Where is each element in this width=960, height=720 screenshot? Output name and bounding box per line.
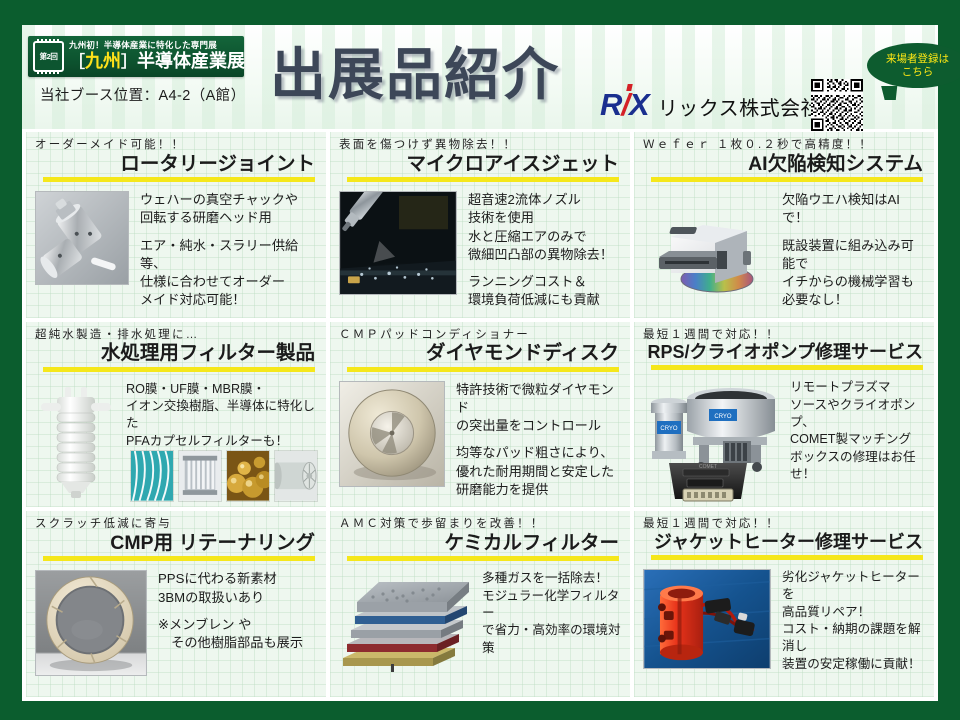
card-description: PPSに代わる新素材 3BMの取扱いあり ※メンブレン や その他樹脂部品も展示 [147, 570, 317, 676]
desc-paragraph: 欠陥ウエハ検知はAIで！ [782, 191, 925, 227]
ro-element-thumb [274, 450, 318, 502]
card-kicker: 最短１週間で対応！！ [643, 518, 925, 531]
title-underline [43, 556, 315, 561]
expo-logo-badge: 第2回 九州初！半導体産業に特化した専門展 ［九州］半導体産業展 [28, 36, 244, 77]
product-card-cryo-pump[interactable]: 最短１週間で対応！！ RPS/クライオポンプ修理サービス [634, 322, 934, 508]
bubble-line-2: こちら [902, 66, 934, 78]
desc-paragraph: 劣化ジャケットヒーターを 高品質リペア！ コスト・納期の課題を解消し 装置の安定… [782, 569, 925, 673]
title-underline [347, 556, 619, 561]
desc-paragraph: ※メンブレン や その他樹脂部品も展示 [158, 616, 317, 652]
card-kicker: 最短１週間で対応！！ [643, 329, 925, 342]
desc-paragraph: ウェハーの真空チャックや 回転する研磨ヘッド用 [140, 191, 317, 227]
desc-paragraph: リモートプラズマ ソースやクライオポンプ、 COMET製マッチング ボックスの修… [790, 379, 925, 483]
card-title: AI欠陥検知システム [748, 153, 923, 175]
desc-paragraph: ランニングコスト＆ 環境負荷低減にも貢献 [468, 273, 621, 309]
water-filter-photo [35, 381, 115, 499]
expo-name-rest: 半導体産業展 [137, 51, 245, 71]
poster-header: 第2回 九州初！半導体産業に特化した専門展 ［九州］半導体産業展 当社ブース位置… [22, 25, 938, 129]
expo-name-highlight: 九州 [85, 51, 121, 71]
product-card-diamond-disk[interactable]: ＣＭＰパッドコンディショナー ダイヤモンドディスク [330, 322, 630, 508]
title-underline [347, 367, 619, 372]
card-title: CMP用 リテーナリング [110, 532, 315, 554]
desc-paragraph: 多種ガスを一括除去！ モジュラー化学フィルター で省力・高効率の環境対策 [482, 570, 621, 657]
title-underline [43, 367, 315, 372]
expo-name: ［九州］半導体産業展 [69, 52, 245, 72]
card-title: RPS/クライオポンプ修理サービス [648, 342, 923, 363]
card-title: マイクロアイスジェット [406, 153, 619, 175]
product-card-water-filter[interactable]: 超純水製造・排水処理に… 水処理用フィルター製品 [26, 322, 326, 508]
title-underline [43, 177, 315, 182]
desc-paragraph: エア・純水・スラリー供給等、 仕様に合わせてオーダー メイド対応可能！ [140, 237, 317, 310]
chip-icon: 第2回 [33, 41, 64, 72]
booth-location: 当社ブース位置：A4-2（A館） [40, 84, 256, 105]
svg-text:CRYO: CRYO [714, 414, 732, 420]
filter-module-thumb [178, 450, 222, 502]
bracket-open: ［ [69, 54, 85, 71]
bubble-line-1: 来場者登録は [886, 53, 949, 65]
title-underline [651, 177, 923, 182]
card-description: リモートプラズマ ソースやクライオポンプ、 COMET製マッチング ボックスの修… [779, 379, 925, 503]
svg-text:COMET: COMET [699, 464, 717, 470]
chemical-filter-photo [339, 570, 471, 674]
company-name: リックス株式会社 [658, 92, 821, 121]
desc-paragraph: 均等なパッド粗さにより、 優れた耐用期間と安定した 研磨能力を提供 [456, 444, 621, 499]
retainer-ring-photo [35, 570, 147, 676]
desc-paragraph: RO膜・UF膜・MBR膜・ イオン交換樹脂、半導体に特化した PFAカプセルフィ… [126, 381, 317, 451]
card-kicker: 超純水製造・排水処理に… [35, 329, 317, 342]
poster-sheet: 第2回 九州初！半導体産業に特化した専門展 ［九州］半導体産業展 当社ブース位置… [22, 25, 938, 694]
poster-frame: 第2回 九州初！半導体産業に特化した専門展 ［九州］半導体産業展 当社ブース位置… [0, 0, 960, 720]
thumbnail-strip [130, 450, 318, 502]
card-title: 水処理用フィルター製品 [101, 342, 315, 364]
card-title: ロータリージョイント [120, 153, 315, 175]
card-description: 劣化ジャケットヒーターを 高品質リペア！ コスト・納期の課題を解消し 装置の安定… [771, 569, 925, 673]
card-description: 多種ガスを一括除去！ モジュラー化学フィルター で省力・高効率の環境対策 [471, 570, 621, 674]
title-underline [347, 177, 619, 182]
expo-tagline: 九州初！半導体産業に特化した専門展 [69, 41, 245, 50]
bracket-close: ］ [121, 54, 137, 71]
desc-paragraph: PPSに代わる新素材 3BMの取扱いあり [158, 570, 317, 606]
desc-paragraph: 超音速2流体ノズル 技術を使用 水と圧縮エアのみで 微細凹凸部の異物除去！ [468, 191, 621, 264]
card-title: ダイヤモンドディスク [426, 342, 619, 364]
product-card-rotary-joint[interactable]: オーダーメイド可能！！ ロータリージョイント [26, 132, 326, 318]
card-description: ウェハーの真空チャックや 回転する研磨ヘッド用 エア・純水・スラリー供給等、 仕… [129, 191, 317, 309]
card-kicker: Ｗｅｆｅｒ １枚０.２秒で高精度！！ [643, 139, 925, 152]
product-grid: オーダーメイド可能！！ ロータリージョイント [22, 129, 938, 701]
desc-paragraph: 特許技術で微粒ダイヤモンド の突出量をコントロール [456, 381, 621, 436]
card-kicker: オーダーメイド可能！！ [35, 139, 317, 152]
rix-logo-icon: R/X [600, 87, 649, 123]
rotary-joint-photo [35, 191, 129, 285]
micro-ice-jet-photo [339, 191, 457, 295]
company-branding: R/X リックス株式会社 [600, 87, 821, 123]
resin-beads-thumb [226, 450, 270, 502]
expo-badge-column: 第2回 九州初！半導体産業に特化した専門展 ［九州］半導体産業展 当社ブース位置… [28, 36, 256, 105]
visitor-registration-bubble[interactable]: 来場者登録は こちら [867, 43, 960, 88]
product-card-micro-ice-jet[interactable]: 表面を傷つけず異物除去！！ マイクロアイスジェット [330, 132, 630, 318]
product-card-chemical-filter[interactable]: ＡＭＣ対策で歩留まりを改善！！ ケミカルフィルター [330, 511, 630, 697]
product-card-ai-defect-detection[interactable]: Ｗｅｆｅｒ １枚０.２秒で高精度！！ AI欠陥検知システム [634, 132, 934, 318]
card-kicker: ＣＭＰパッドコンディショナー [339, 329, 621, 342]
card-kicker: 表面を傷つけず異物除去！！ [339, 139, 621, 152]
desc-paragraph: 既設装置に組み込み可能で イチからの機械学習も 必要なし！ [782, 237, 925, 310]
card-title: ケミカルフィルター [444, 532, 619, 554]
jacket-heater-photo [643, 569, 771, 669]
card-description: 欠陥ウエハ検知はAIで！ 既設装置に組み込み可能で イチからの機械学習も 必要な… [771, 191, 925, 309]
qr-code-icon[interactable] [811, 79, 863, 131]
card-description: 特許技術で微粒ダイヤモンド の突出量をコントロール 均等なパッド粗さにより、 優… [445, 381, 621, 499]
edition-label: 第2回 [40, 53, 58, 61]
uf-membrane-thumb [130, 450, 174, 502]
cryo-pump-photo: CRYO CRYO [643, 379, 779, 503]
diamond-disk-photo [339, 381, 445, 487]
product-card-retainer-ring[interactable]: スクラッチ低減に寄与 CMP用 リテーナリング [26, 511, 326, 697]
ai-defect-detection-photo [643, 191, 771, 303]
card-title: ジャケットヒーター修理サービス [654, 532, 923, 553]
svg-text:CRYO: CRYO [660, 426, 678, 432]
page-title: 出展品紹介 [270, 47, 560, 103]
title-underline [651, 365, 923, 370]
product-card-jacket-heater[interactable]: 最短１週間で対応！！ ジャケットヒーター修理サービス [634, 511, 934, 697]
card-kicker: ＡＭＣ対策で歩留まりを改善！！ [339, 518, 621, 531]
card-kicker: スクラッチ低減に寄与 [35, 518, 317, 531]
title-underline [651, 555, 923, 560]
card-description: 超音速2流体ノズル 技術を使用 水と圧縮エアのみで 微細凹凸部の異物除去！ ラン… [457, 191, 621, 309]
